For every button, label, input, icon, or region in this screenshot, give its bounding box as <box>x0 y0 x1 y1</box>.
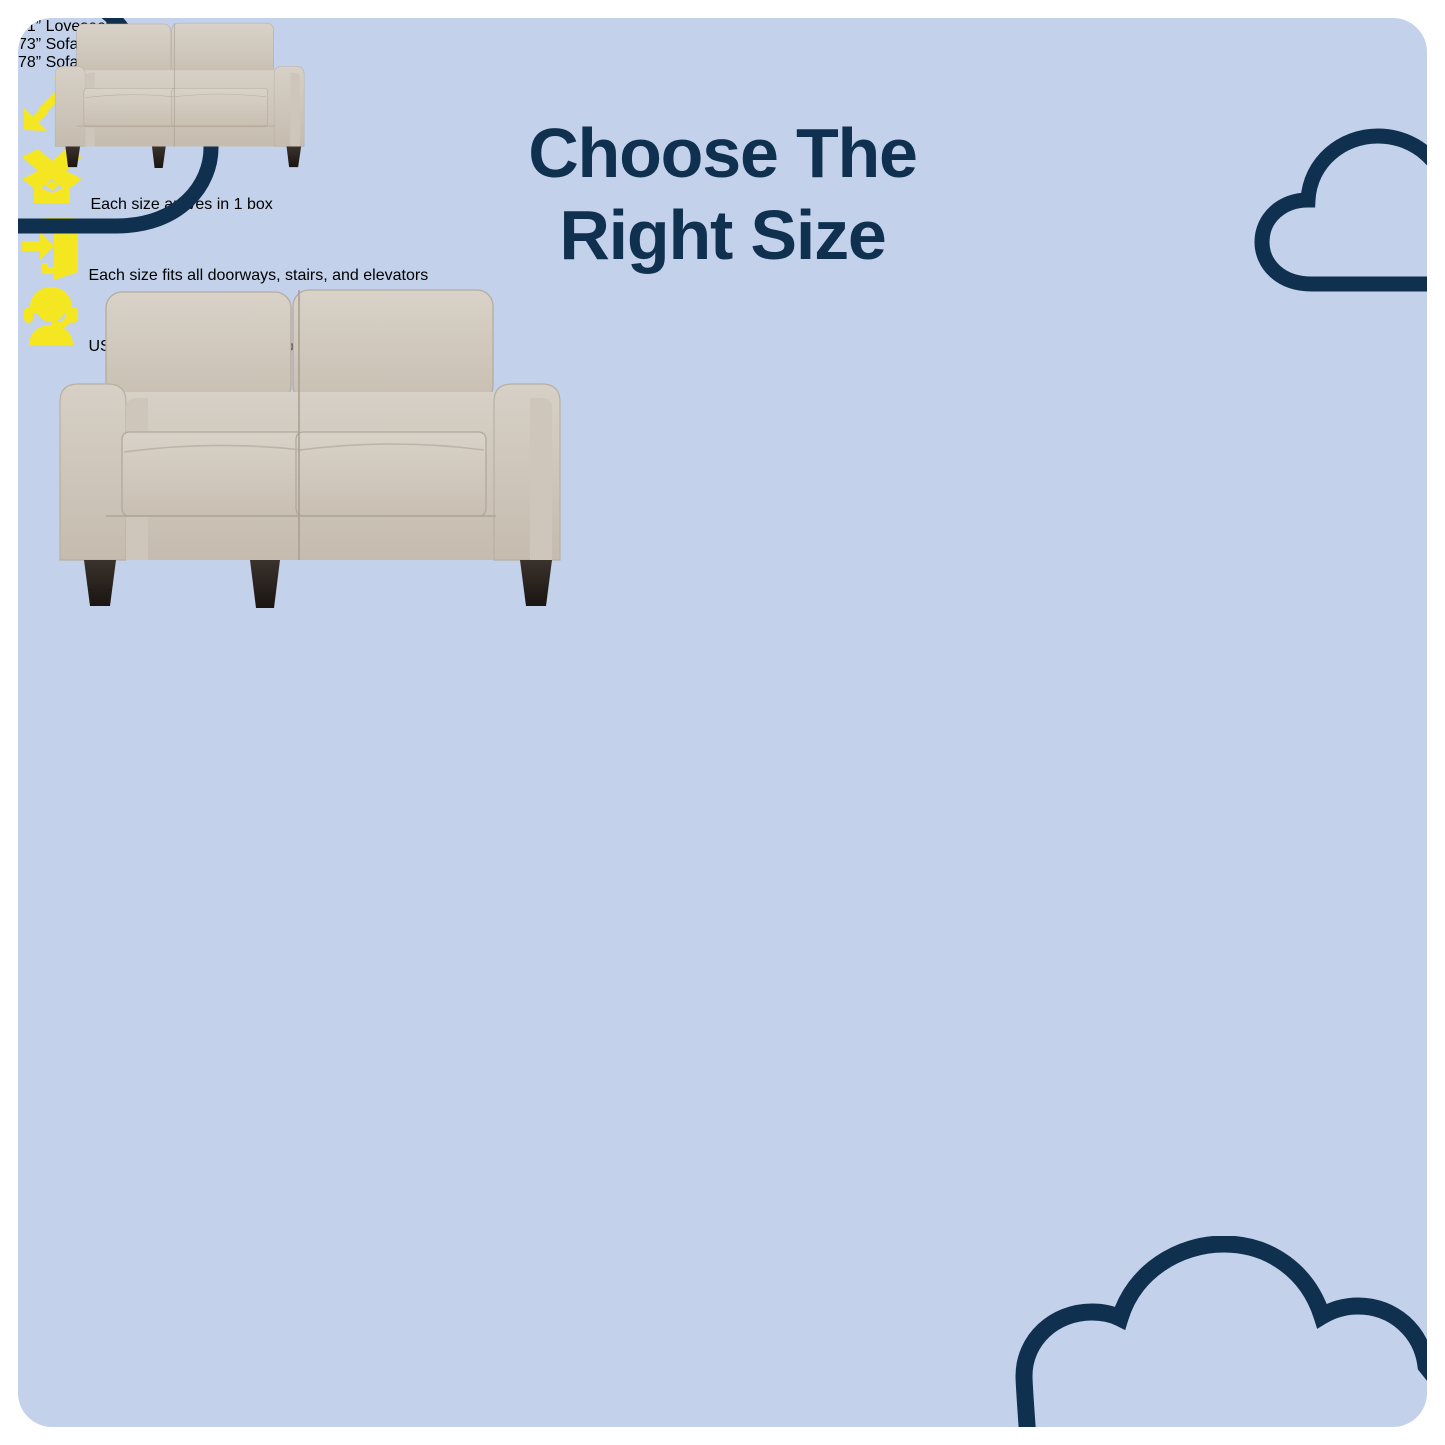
size-callout-measure: 78” <box>18 54 41 71</box>
infographic-canvas: Choose The Right Size <box>18 18 1427 1427</box>
title-line-2: Right Size <box>18 195 1427 277</box>
size-callout-measure: 61” <box>18 18 41 35</box>
product-image-sofa-73 <box>50 18 350 172</box>
size-callout-measure: 73” <box>18 36 41 53</box>
cloud-bottom-right-icon <box>1002 1236 1427 1427</box>
product-image-loveseat <box>50 280 650 620</box>
